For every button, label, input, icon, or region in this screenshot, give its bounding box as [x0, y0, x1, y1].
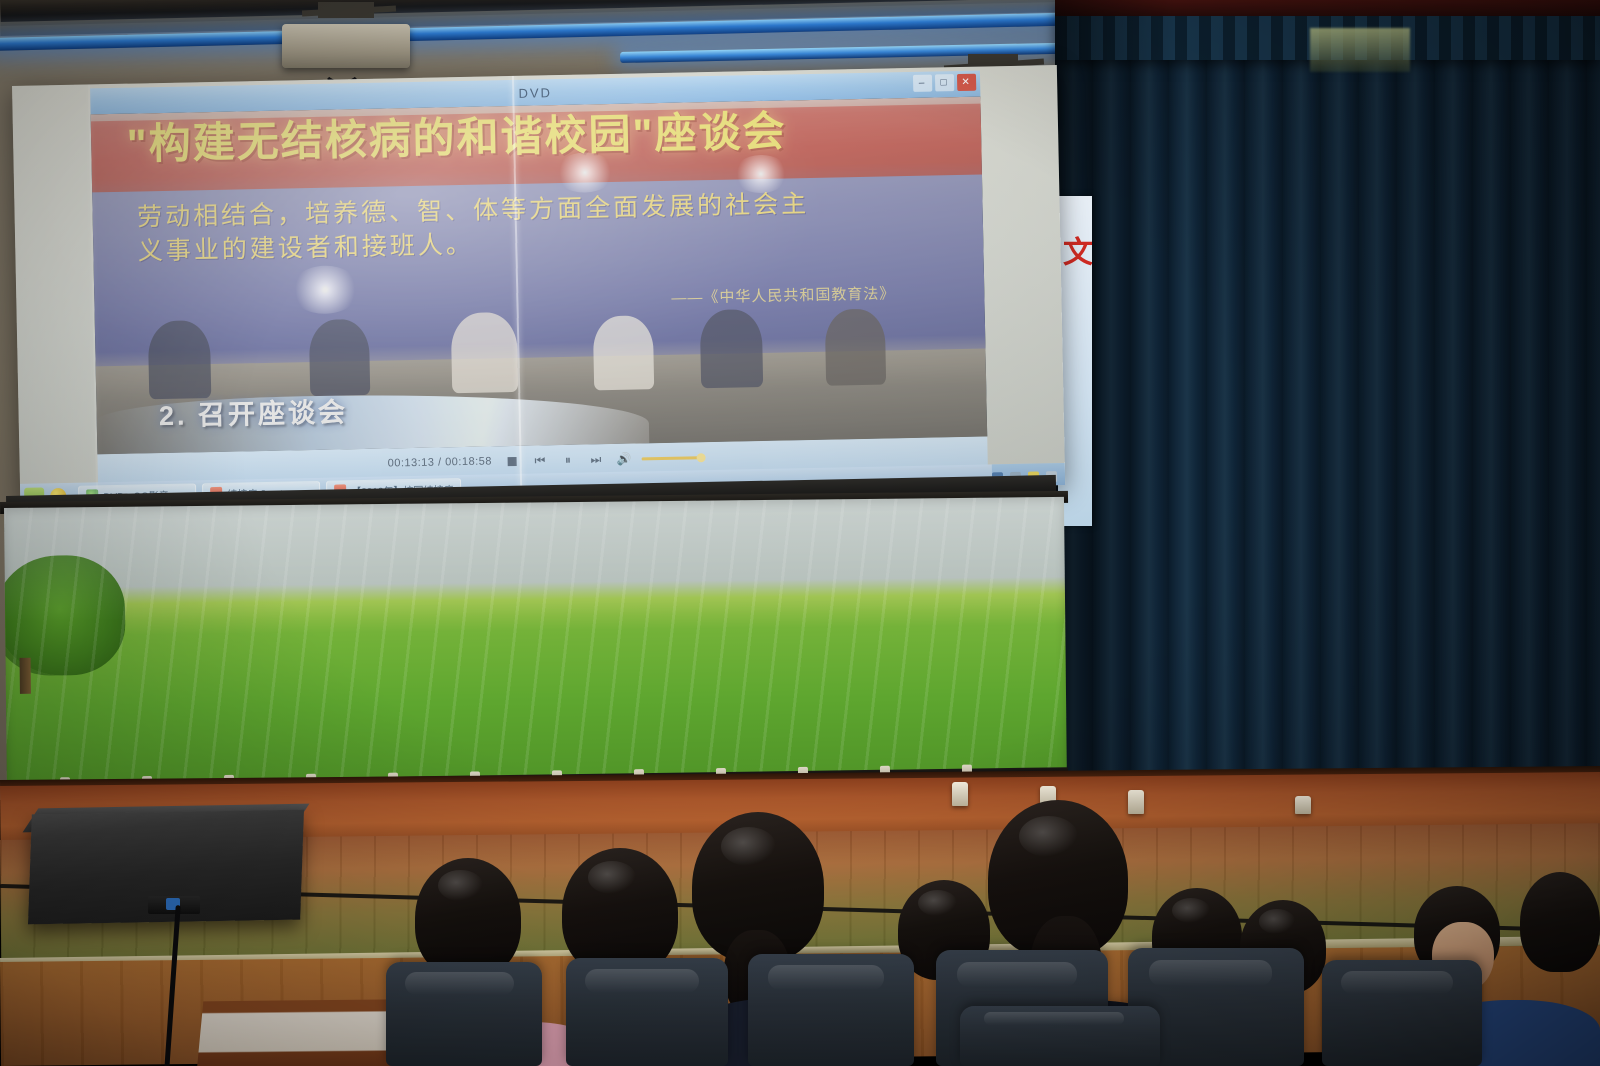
video-frame: "构建无结核病的和谐校园"座谈会 劳动相结合，培养德、智、体等方面全面发展的社会… — [91, 97, 988, 455]
media-player-video-area[interactable]: "构建无结核病的和谐校园"座谈会 劳动相结合，培养德、智、体等方面全面发展的社会… — [91, 97, 988, 455]
maximize-icon[interactable]: □ — [935, 74, 954, 91]
hair-highlight — [438, 870, 483, 901]
footlight — [952, 782, 968, 806]
video-person — [148, 320, 212, 399]
banner-tree-trunk — [20, 658, 31, 694]
audience-chair[interactable] — [1322, 960, 1482, 1066]
stop-button[interactable] — [504, 453, 520, 469]
audience-chair[interactable] — [566, 958, 728, 1066]
video-person — [593, 315, 654, 390]
ceiling-projector-left — [282, 2, 412, 74]
hair-highlight — [588, 861, 637, 894]
chair-highlight — [768, 965, 884, 990]
audience-member-head — [562, 848, 678, 976]
minimize-icon[interactable]: – — [913, 75, 932, 92]
video-person — [824, 308, 886, 385]
footlight — [1128, 790, 1144, 814]
slide-citation: ——《中华人民共和国教育法》 — [671, 282, 895, 307]
chair-highlight — [957, 962, 1077, 988]
volume-slider[interactable] — [642, 456, 702, 460]
pause-button[interactable]: ⏸ — [560, 452, 576, 468]
poster-character: 文 — [1060, 236, 1088, 322]
curtain-top-trim — [1055, 0, 1600, 16]
video-person — [700, 309, 764, 388]
footlight — [1295, 796, 1311, 814]
audience-chair[interactable] — [960, 1006, 1160, 1066]
chair-highlight — [1341, 971, 1453, 994]
volume-icon[interactable]: 🔊 — [616, 451, 632, 467]
video-person — [451, 312, 519, 393]
audience-chair[interactable] — [386, 962, 542, 1066]
curtain-light-gap — [1310, 28, 1410, 72]
stage-curtain — [1055, 0, 1600, 800]
video-glare — [289, 265, 360, 314]
chair-highlight — [405, 972, 514, 995]
backdrop-banner — [4, 497, 1067, 793]
auditorium-scene: 文 DVD – □ ✕ "构建无结核病的和谐校园"座谈会 劳 — [0, 0, 1600, 1066]
hair-highlight — [1019, 816, 1078, 857]
previous-button[interactable]: ⏮ — [532, 452, 548, 468]
hair-highlight — [1172, 898, 1210, 923]
audience-chair[interactable] — [748, 954, 914, 1066]
volume-slider-knob[interactable] — [697, 453, 706, 462]
hair-highlight — [918, 890, 957, 916]
playback-time-display: 00:13:13 / 00:18:58 — [388, 455, 493, 469]
audience-member-head — [1520, 872, 1600, 972]
hair-highlight — [721, 827, 776, 866]
window-controls: – □ ✕ — [913, 74, 976, 92]
chair-highlight — [585, 969, 698, 993]
next-button[interactable]: ⏭ — [588, 451, 604, 467]
media-player-title: DVD — [518, 85, 552, 101]
chair-highlight — [1149, 960, 1272, 986]
hair-highlight — [1259, 909, 1295, 933]
audience-member-head — [415, 858, 521, 978]
video-person — [308, 319, 370, 396]
close-icon[interactable]: ✕ — [957, 74, 976, 91]
banner-tree — [4, 555, 126, 676]
projection-screen: DVD – □ ✕ "构建无结核病的和谐校园"座谈会 劳动相结合，培养德、智、体… — [12, 65, 1065, 506]
chair-highlight — [984, 1012, 1124, 1025]
slide-caption-overlay: 2. 召开座谈会 — [159, 390, 349, 433]
